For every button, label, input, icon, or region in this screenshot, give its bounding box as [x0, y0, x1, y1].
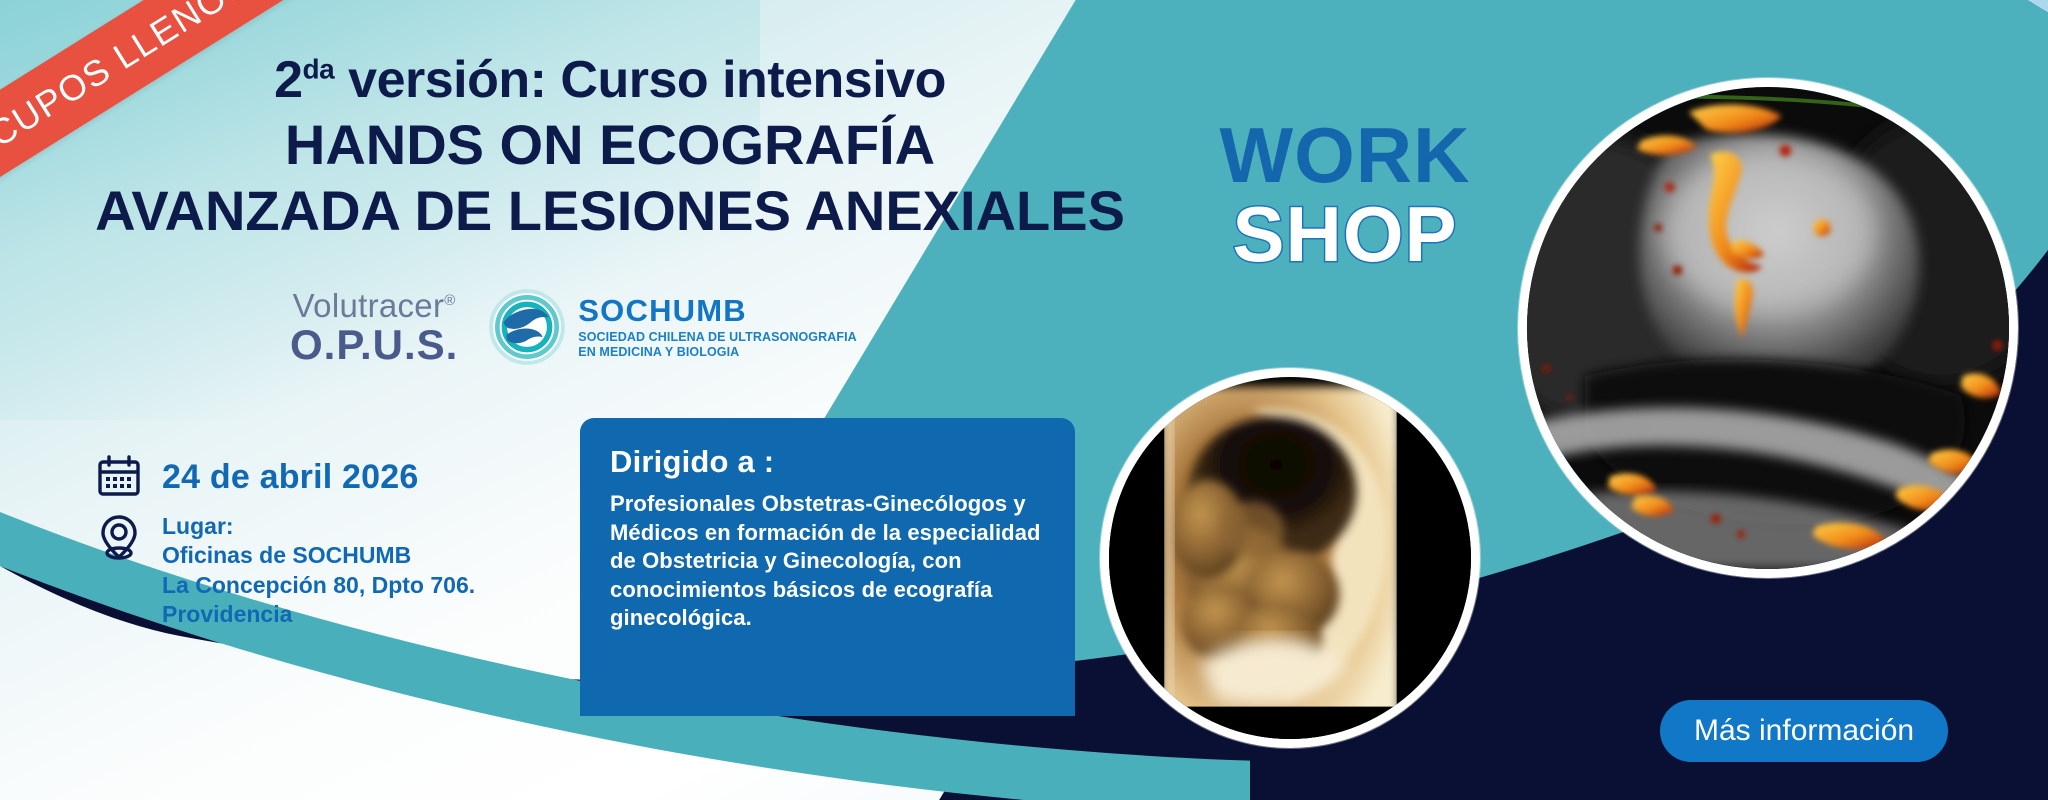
sochumb-text: SOCHUMB SOCIEDAD CHILENA DE ULTRASONOGRA… [578, 295, 857, 360]
event-place-row: Lugar: Oficinas de SOCHUMB La Concepción… [96, 512, 475, 630]
logos-row: Volutracer® O.P.U.S. SOCHUMB SOCIEDAD CH… [290, 288, 857, 366]
sochumb-dolphins-icon [488, 288, 566, 366]
sochumb-logo: SOCHUMB SOCIEDAD CHILENA DE ULTRASONOGRA… [488, 288, 857, 366]
workshop-line-1: WORK [1195, 118, 1495, 193]
target-audience-box: Dirigido a : Profesionales Obstetras-Gin… [580, 418, 1075, 716]
volutracer-name: Volutracer [293, 287, 445, 324]
sochumb-name: SOCHUMB [578, 295, 857, 326]
registered-trademark-icon: ® [444, 292, 455, 309]
calendar-icon [97, 454, 141, 498]
volutracer-wordmark: Volutracer® [293, 289, 456, 322]
target-audience-heading: Dirigido a : [610, 444, 1045, 480]
event-info-block: 24 de abril 2026 Lugar: Oficinas de SOCH… [96, 452, 475, 630]
sochumb-subtitle-line-2: EN MEDICINA Y BIOLOGIA [578, 345, 739, 359]
title-line-1-rest: versión: Curso intensivo [334, 51, 946, 109]
location-pin-icon [97, 514, 141, 560]
place-line-3: Providencia [162, 600, 475, 629]
workshop-wordmark: WORK SHOP [1195, 118, 1495, 273]
sochumb-subtitle: SOCIEDAD CHILENA DE ULTRASONOGRAFIA EN M… [578, 330, 857, 360]
mas-informacion-button[interactable]: Más información [1660, 700, 1948, 762]
location-icon-container [96, 512, 142, 560]
promotional-banner: CUPOS LLENOS 2da versión: Curso intensiv… [0, 0, 2048, 800]
title-ordinal-suffix: da [303, 54, 335, 85]
title-ordinal-number: 2 [274, 51, 302, 109]
title-line-1: 2da versión: Curso intensivo [80, 52, 1140, 108]
event-place: Lugar: Oficinas de SOCHUMB La Concepción… [162, 512, 475, 630]
opus-wordmark: O.P.U.S. [290, 324, 458, 366]
ultrasound-image-doppler [1518, 78, 2018, 578]
ultrasound-3d-graphic [1109, 377, 1471, 739]
title-line-2: HANDS ON ECOGRAFÍA [80, 114, 1140, 176]
event-date: 24 de abril 2026 [162, 452, 418, 497]
sochumb-subtitle-line-1: SOCIEDAD CHILENA DE ULTRASONOGRAFIA [578, 330, 857, 344]
workshop-line-2: SHOP [1195, 195, 1495, 273]
event-date-row: 24 de abril 2026 [96, 452, 475, 498]
ultrasound-image-3d [1100, 368, 1480, 748]
ultrasound-doppler-graphic [1527, 87, 2009, 569]
volutracer-opus-logo: Volutracer® O.P.U.S. [290, 289, 458, 366]
place-line-1: Oficinas de SOCHUMB [162, 541, 475, 570]
target-audience-body: Profesionales Obstetras-Ginecólogos y Mé… [610, 490, 1045, 633]
place-line-2: La Concepción 80, Dpto 706. [162, 571, 475, 600]
place-label: Lugar: [162, 512, 475, 541]
title-line-3: AVANZADA DE LESIONES ANEXIALES [80, 180, 1140, 242]
title-block: 2da versión: Curso intensivo HANDS ON EC… [80, 52, 1140, 241]
calendar-icon-container [96, 452, 142, 498]
